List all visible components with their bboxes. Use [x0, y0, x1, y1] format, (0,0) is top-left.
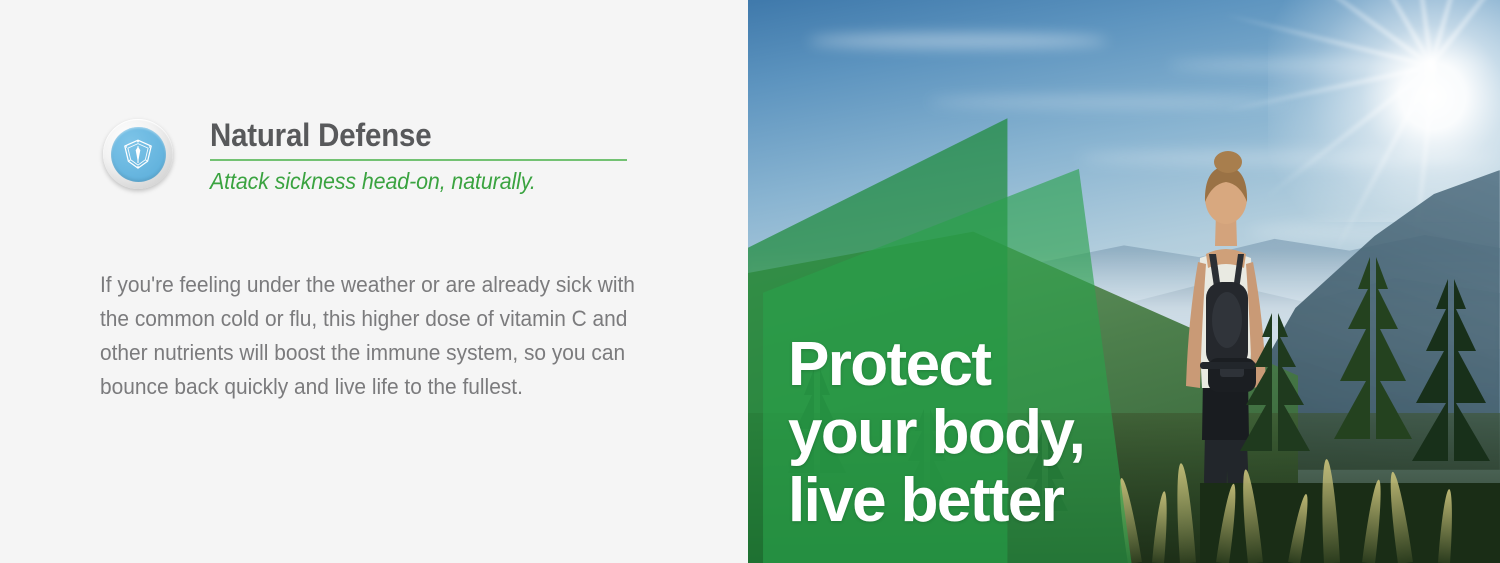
hero-headline: Protect your body, live better: [788, 331, 1084, 535]
heading-block: Natural Defense Attack sickness head-on,…: [210, 118, 630, 195]
title-divider: [210, 159, 627, 161]
page-title: Natural Defense: [210, 118, 596, 153]
left-content-panel: Natural Defense Attack sickness head-on,…: [0, 0, 748, 563]
hero-image-panel: Protect your body, live better: [748, 0, 1500, 563]
shield-sword-icon: [103, 119, 173, 189]
promo-banner: Natural Defense Attack sickness head-on,…: [0, 0, 1500, 563]
cloud-wisp: [808, 34, 1108, 48]
icon-disc: [111, 127, 166, 182]
page-subtitle: Attack sickness head-on, naturally.: [210, 168, 601, 195]
body-paragraph: If you're feeling under the weather or a…: [100, 268, 656, 404]
